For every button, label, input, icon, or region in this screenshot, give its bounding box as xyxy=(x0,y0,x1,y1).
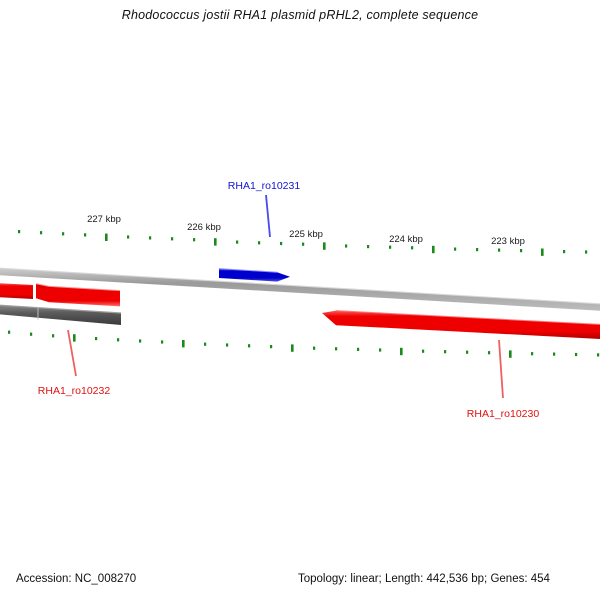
genome-backbone-secondary[interactable] xyxy=(0,305,121,325)
gene-feature-forward-ro10231[interactable] xyxy=(219,269,290,282)
gene-label-ro10231[interactable]: RHA1_ro10231 xyxy=(228,180,300,192)
ruler-ticks-lower xyxy=(8,331,599,358)
leader-line-ro10231 xyxy=(266,195,270,237)
gene-label-ro10232[interactable]: RHA1_ro10232 xyxy=(38,385,110,397)
footer-accession: Accession: NC_008270 xyxy=(16,573,136,585)
leader-line-ro10230 xyxy=(499,340,503,398)
scale-label-226kbp: 226 kbp xyxy=(187,222,221,233)
footer-sequence-stats: Topology: linear; Length: 442,536 bp; Ge… xyxy=(298,573,550,585)
scale-label-225kbp: 225 kbp xyxy=(289,229,323,240)
gene-feature-reverse-left-a[interactable] xyxy=(0,283,33,299)
scale-label-224kbp: 224 kbp xyxy=(389,234,423,245)
scale-label-227kbp: 227 kbp xyxy=(87,214,121,225)
gene-label-ro10230[interactable]: RHA1_ro10230 xyxy=(467,408,539,420)
gene-feature-reverse-left-b[interactable] xyxy=(36,284,120,307)
gene-feature-reverse-ro10230[interactable] xyxy=(322,311,600,340)
scale-label-223kbp: 223 kbp xyxy=(491,236,525,247)
genome-map-canvas[interactable] xyxy=(0,0,600,600)
genome-map-viewer: Rhodococcus jostii RHA1 plasmid pRHL2, c… xyxy=(0,0,600,600)
